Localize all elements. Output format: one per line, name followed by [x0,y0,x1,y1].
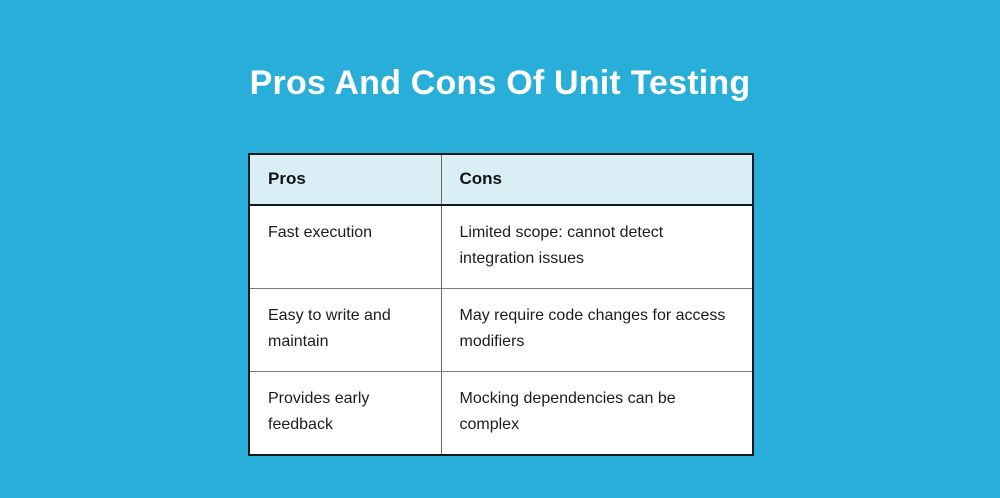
pros-cons-table-container: Pros Cons Fast execution Limited scope: … [248,153,752,456]
table-row: Easy to write and maintain May require c… [249,289,753,372]
cell-cons: Limited scope: cannot detect integration… [441,205,753,289]
page-root: Pros And Cons Of Unit Testing Pros Cons … [0,0,1000,498]
table-header: Pros Cons [249,154,753,205]
cell-cons: Mocking dependencies can be complex [441,372,753,456]
column-header-pros: Pros [249,154,441,205]
pros-cons-table: Pros Cons Fast execution Limited scope: … [248,153,754,456]
cell-cons: May require code changes for access modi… [441,289,753,372]
page-title: Pros And Cons Of Unit Testing [0,62,1000,104]
cell-pros: Fast execution [249,205,441,289]
cell-pros: Provides early feedback [249,372,441,456]
table-body: Fast execution Limited scope: cannot det… [249,205,753,455]
table-row: Fast execution Limited scope: cannot det… [249,205,753,289]
table-header-row: Pros Cons [249,154,753,205]
column-header-cons: Cons [441,154,753,205]
cell-pros: Easy to write and maintain [249,289,441,372]
table-row: Provides early feedback Mocking dependen… [249,372,753,456]
